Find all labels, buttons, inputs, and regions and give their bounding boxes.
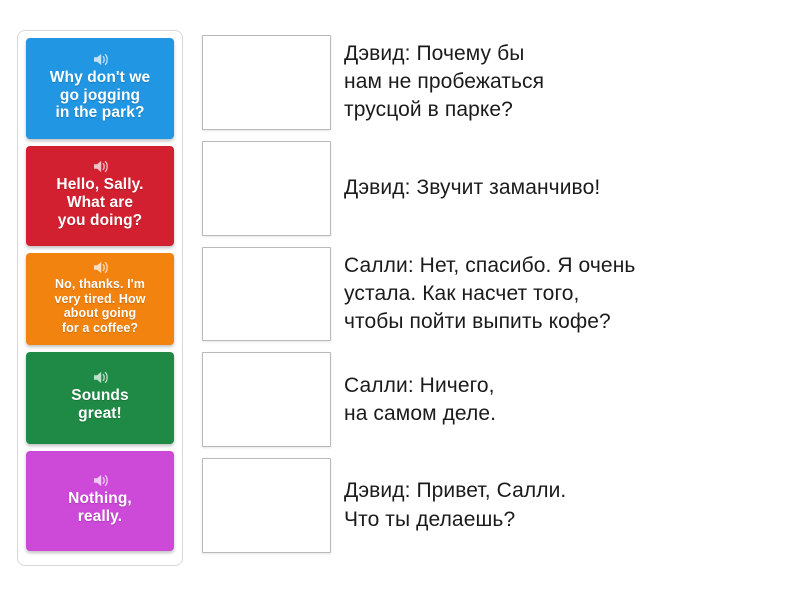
tile-label: No, thanks. I'm very tired. How about go… xyxy=(54,277,145,335)
speaker-icon[interactable] xyxy=(92,260,109,275)
tiles-stack: Why don't we go jogging in the park? Hel… xyxy=(26,38,174,558)
speaker-icon[interactable] xyxy=(92,473,109,488)
tile-label: Sounds great! xyxy=(71,387,128,423)
dropzone-4[interactable] xyxy=(202,352,331,447)
speaker-icon[interactable] xyxy=(92,370,109,385)
tiles-panel: Why don't we go jogging in the park? Hel… xyxy=(17,30,183,566)
draggable-tile-1[interactable]: Why don't we go jogging in the park? xyxy=(26,38,174,139)
prompt-1: Дэвид: Почему бы нам не пробежаться трус… xyxy=(344,35,784,130)
dropzone-1[interactable] xyxy=(202,35,331,130)
draggable-tile-2[interactable]: Hello, Sally. What are you doing? xyxy=(26,146,174,246)
prompt-column: Дэвид: Почему бы нам не пробежаться трус… xyxy=(344,35,784,553)
dropzone-5[interactable] xyxy=(202,458,331,553)
match-up-activity: Why don't we go jogging in the park? Hel… xyxy=(0,0,800,600)
draggable-tile-5[interactable]: Nothing, really. xyxy=(26,451,174,551)
draggable-tile-3[interactable]: No, thanks. I'm very tired. How about go… xyxy=(26,253,174,345)
draggable-tile-4[interactable]: Sounds great! xyxy=(26,352,174,444)
dropzone-column xyxy=(202,35,331,553)
prompt-2: Дэвид: Звучит заманчиво! xyxy=(344,141,784,236)
tile-label: Nothing, really. xyxy=(68,490,132,526)
dropzone-3[interactable] xyxy=(202,247,331,342)
tile-label: Hello, Sally. What are you doing? xyxy=(56,176,143,230)
dropzone-2[interactable] xyxy=(202,141,331,236)
speaker-icon[interactable] xyxy=(92,52,109,67)
prompt-3: Салли: Нет, спасибо. Я очень устала. Как… xyxy=(344,247,784,342)
speaker-icon[interactable] xyxy=(92,159,109,174)
prompt-4: Салли: Ничего, на самом деле. xyxy=(344,352,784,447)
tile-label: Why don't we go jogging in the park? xyxy=(50,69,150,123)
prompt-5: Дэвид: Привет, Салли. Что ты делаешь? xyxy=(344,458,784,553)
